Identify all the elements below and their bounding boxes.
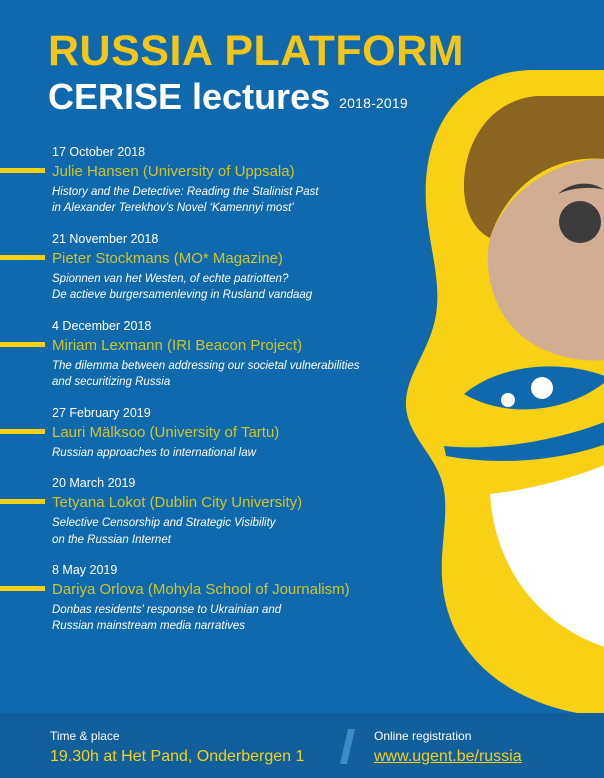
time-and-place-value: 19.30h at Het Pand, Onderbergen 1 [50,745,304,768]
dash-marker-icon [0,586,45,591]
list-item: 21 November 2018 Pieter Stockmans (MO* M… [0,230,420,304]
registration-label: Online registration [374,727,522,745]
doll-sash-curve [444,392,604,461]
dash-marker-icon [0,168,45,173]
lecture-topic-line: on the Russian Internet [52,532,420,549]
registration-url-link[interactable]: www.ugent.be/russia [374,745,522,768]
time-and-place-block: Time & place 19.30h at Het Pand, Onderbe… [50,727,304,768]
poster-footer: Time & place 19.30h at Het Pand, Onderbe… [0,713,604,778]
lecture-speaker: Lauri Mälksoo (University of Tartu) [52,422,420,445]
lecture-date: 20 March 2019 [52,474,420,492]
lecture-speaker: Pieter Stockmans (MO* Magazine) [52,248,420,271]
dash-marker-icon [0,429,45,434]
poster-canvas: RUSSIA PLATFORM CERISE lectures 2018-201… [0,0,604,778]
lecture-topic-line: History and the Detective: Reading the S… [52,184,420,201]
list-item: 17 October 2018 Julie Hansen (University… [0,143,420,217]
dash-marker-icon [0,499,45,504]
lecture-date: 27 February 2019 [52,404,420,422]
dash-marker-icon [0,255,45,260]
lecture-speaker: Tetyana Lokot (Dublin City University) [52,492,420,515]
doll-eye [559,201,601,243]
registration-block: Online registration www.ugent.be/russia [374,727,522,768]
lecture-topic-line: Russian mainstream media narratives [52,618,420,635]
page-title-main: RUSSIA PLATFORM [48,30,464,73]
lecture-topic-line: De actieve burgersamenleving in Rusland … [52,287,420,304]
list-item: 20 March 2019 Tetyana Lokot (Dublin City… [0,474,420,548]
dash-marker-icon [0,342,45,347]
list-item: 27 February 2019 Lauri Mälksoo (Universi… [0,404,420,461]
lecture-speaker: Julie Hansen (University of Uppsala) [52,161,420,184]
lecture-speaker: Miriam Lexmann (IRI Beacon Project) [52,335,420,358]
time-and-place-label: Time & place [50,727,304,745]
lecture-list: 17 October 2018 Julie Hansen (University… [0,143,420,648]
doll-face-shape [488,159,604,361]
lecture-topic-line: in Alexander Terekhov’s Novel ‘Kamennyi … [52,200,420,217]
footer-inner: Time & place 19.30h at Het Pand, Onderbe… [0,713,604,778]
doll-hair-shape [464,96,604,238]
academic-year-label: 2018-2019 [339,95,408,111]
page-title-sub: CERISE lectures [48,79,330,115]
lecture-topic-line: The dilemma between addressing our socie… [52,358,420,375]
lecture-speaker: Dariya Orlova (Mohyla School of Journali… [52,579,420,602]
lecture-date: 8 May 2019 [52,561,420,579]
subtitle-row: CERISE lectures 2018-2019 [48,79,464,115]
lecture-date: 4 December 2018 [52,317,420,335]
doll-apron-shape [490,434,604,658]
footer-divider-slash-icon [340,729,355,764]
list-item: 4 December 2018 Miriam Lexmann (IRI Beac… [0,317,420,391]
matryoshka-doll-illustration [404,70,604,720]
doll-eyebrow [558,184,604,194]
lecture-topic-line: Russian approaches to international law [52,445,420,462]
lecture-date: 17 October 2018 [52,143,420,161]
doll-leaf-dot-large [531,377,553,399]
lecture-topic-line: Selective Censorship and Strategic Visib… [52,515,420,532]
lecture-topic-line: Spionnen van het Westen, of echte patrio… [52,271,420,288]
list-item: 8 May 2019 Dariya Orlova (Mohyla School … [0,561,420,635]
lecture-topic-line: and securitizing Russia [52,374,420,391]
doll-scarf-shape [406,70,604,720]
doll-leaf-decoration-left [464,366,604,409]
lecture-topic-line: Donbas residents' response to Ukrainian … [52,602,420,619]
doll-scarf-fold [516,338,604,377]
poster-header: RUSSIA PLATFORM CERISE lectures 2018-201… [48,30,464,115]
doll-leaf-dot-small [501,393,515,407]
lecture-date: 21 November 2018 [52,230,420,248]
